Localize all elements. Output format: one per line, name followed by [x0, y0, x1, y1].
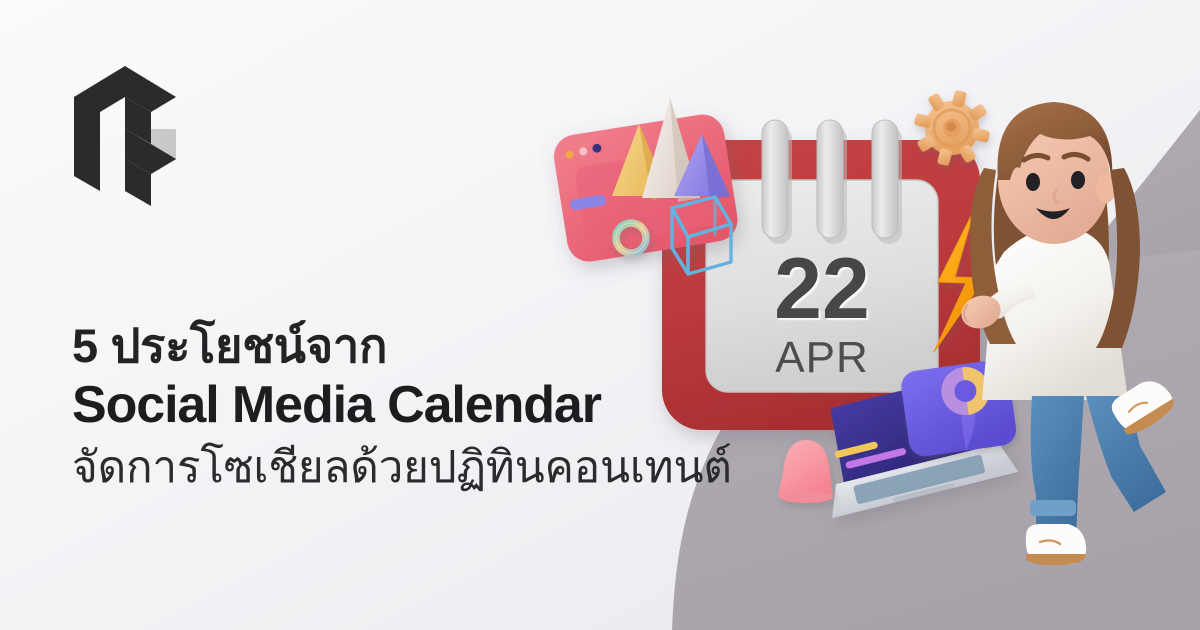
camera-lens-icon: [899, 358, 1018, 458]
leg-front: [1031, 396, 1084, 542]
pill-bar-icon: [569, 194, 606, 210]
mouth: [1036, 208, 1070, 219]
wireframe-cube-icon: [672, 197, 731, 274]
face: [998, 116, 1110, 244]
brand-logo[interactable]: [74, 66, 196, 206]
headline-line-3: จัดการโซเชียลด้วยปฏิทินคอนเทนต์: [72, 442, 732, 495]
hand: [957, 291, 1005, 334]
calendar-rings: [762, 120, 902, 244]
browser-card-icon: [551, 111, 741, 264]
headline-line-1: 5 ประโยชน์จาก: [72, 318, 732, 373]
calendar-month-label: APR: [775, 333, 868, 382]
banner-canvas: 22 APR: [0, 0, 1200, 630]
arm: [977, 278, 1036, 322]
character-3d-woman: [957, 102, 1179, 565]
laptop-icon: [806, 368, 1018, 518]
pyramid-white-icon: [642, 98, 700, 202]
lightning-bolt-icon: [934, 208, 985, 352]
headline-line-2: Social Media Calendar: [72, 375, 732, 435]
pyramid-yellow-icon: [612, 124, 669, 200]
eye-left: [1026, 173, 1040, 191]
eye-right: [1071, 171, 1085, 189]
shoe-front: [1026, 524, 1086, 565]
leg-back: [1086, 396, 1166, 512]
headline-block: 5 ประโยชน์จาก Social Media Calendar จัดก…: [72, 318, 732, 495]
calendar-day-number: 22: [774, 241, 870, 337]
shoe-back: [1107, 373, 1178, 439]
pyramid-purple-icon: [674, 134, 730, 200]
bell-icon: [778, 440, 833, 503]
gear-icon: [906, 82, 998, 174]
torus-ring-icon: [616, 223, 646, 253]
